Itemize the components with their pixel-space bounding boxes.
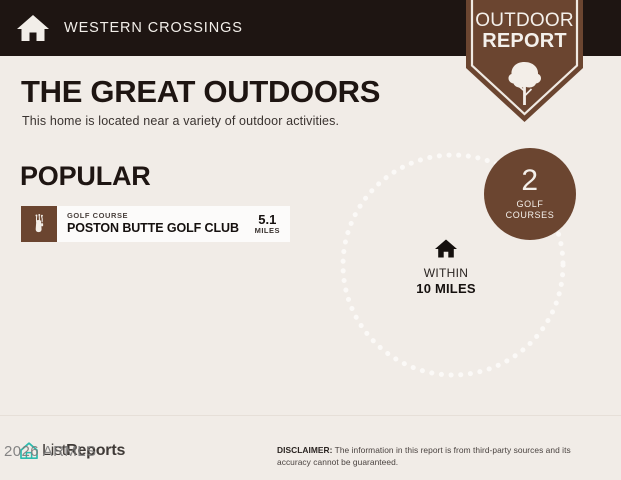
radius-distance-label: 10 MILES [398,281,494,297]
count-label: GOLF COURSES [506,199,555,221]
page-subtitle: This home is located near a variety of o… [22,114,339,128]
mls-watermark: 2026 ARMLS [4,443,96,460]
outdoor-report-badge: OUTDOOR REPORT [466,0,583,122]
outdoor-report-page: WESTERN CROSSINGS OUTDOOR REPORT THE GRE… [0,0,621,480]
home-icon [434,238,458,259]
count-label-line-2: COURSES [506,210,555,221]
poi-distance-value: 5.1 [255,213,280,227]
poi-category: GOLF COURSE [67,212,255,220]
page-title: THE GREAT OUTDOORS [21,74,380,110]
disclaimer: DISCLAIMER: The information in this repo… [277,444,599,468]
poi-distance: 5.1 MILES [255,213,290,235]
home-icon [16,13,50,43]
golf-bag-icon [21,206,57,242]
section-title-popular: POPULAR [20,161,151,192]
count-number: 2 [521,167,538,196]
radius-within-label: WITHIN [398,266,494,281]
list-item-labels: GOLF COURSE POSTON BUTTE GOLF CLUB [57,212,255,236]
poi-name: POSTON BUTTE GOLF CLUB [67,221,255,235]
footer-divider [0,415,621,416]
count-bubble-golf-courses: 2 GOLF COURSES [484,148,576,240]
poi-distance-unit: MILES [255,227,280,235]
community-name: WESTERN CROSSINGS [64,20,243,36]
list-item[interactable]: GOLF COURSE POSTON BUTTE GOLF CLUB 5.1 M… [21,206,290,242]
center-marker: WITHIN 10 MILES [398,238,494,297]
count-label-line-1: GOLF [506,199,555,210]
disclaimer-label: DISCLAIMER: [277,445,332,455]
